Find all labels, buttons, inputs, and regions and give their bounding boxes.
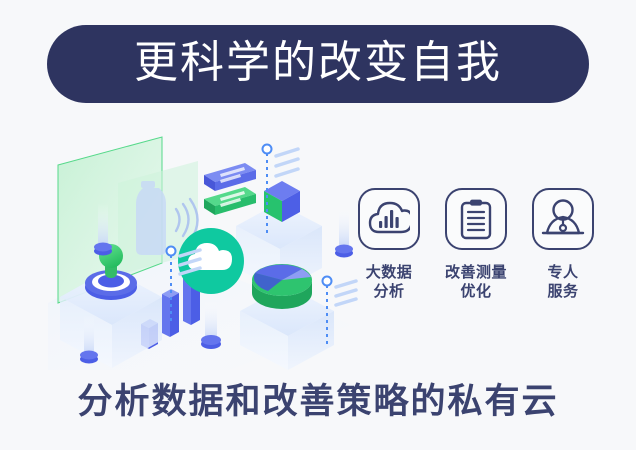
feature-big-data-analysis[interactable]: 大数据 分析 (352, 188, 426, 301)
clipboard-lines-icon-box (445, 188, 507, 250)
clipboard-lines-icon (459, 198, 493, 240)
page-title: 更科学的改变自我 (134, 41, 502, 85)
isometric-illustration (40, 125, 360, 370)
feature-list: 大数据 分析 改善测量 优化 (352, 188, 600, 328)
feature-dedicated-service[interactable]: 专人 服务 (526, 188, 600, 301)
cloud-bar-chart-icon (368, 201, 410, 237)
feature-label: 大数据 分析 (366, 263, 413, 301)
feature-measure-optimize[interactable]: 改善测量 优化 (439, 188, 513, 301)
feature-label: 专人 服务 (547, 263, 578, 301)
cloud-bar-chart-icon-box (358, 188, 420, 250)
marker-pin (335, 205, 353, 258)
label-card-blue (204, 163, 256, 191)
footer-tagline: 分析数据和改善策略的私有云 (0, 380, 636, 424)
bottle-silhouette (136, 181, 166, 255)
feature-label: 改善测量 优化 (445, 263, 507, 301)
promo-poster: 更科学的改变自我 (0, 0, 636, 450)
support-agent-icon (541, 199, 585, 239)
title-banner: 更科学的改变自我 (47, 25, 589, 103)
support-agent-icon-box (532, 188, 594, 250)
label-card-green (204, 187, 256, 215)
pie-chart-3d (252, 264, 312, 309)
